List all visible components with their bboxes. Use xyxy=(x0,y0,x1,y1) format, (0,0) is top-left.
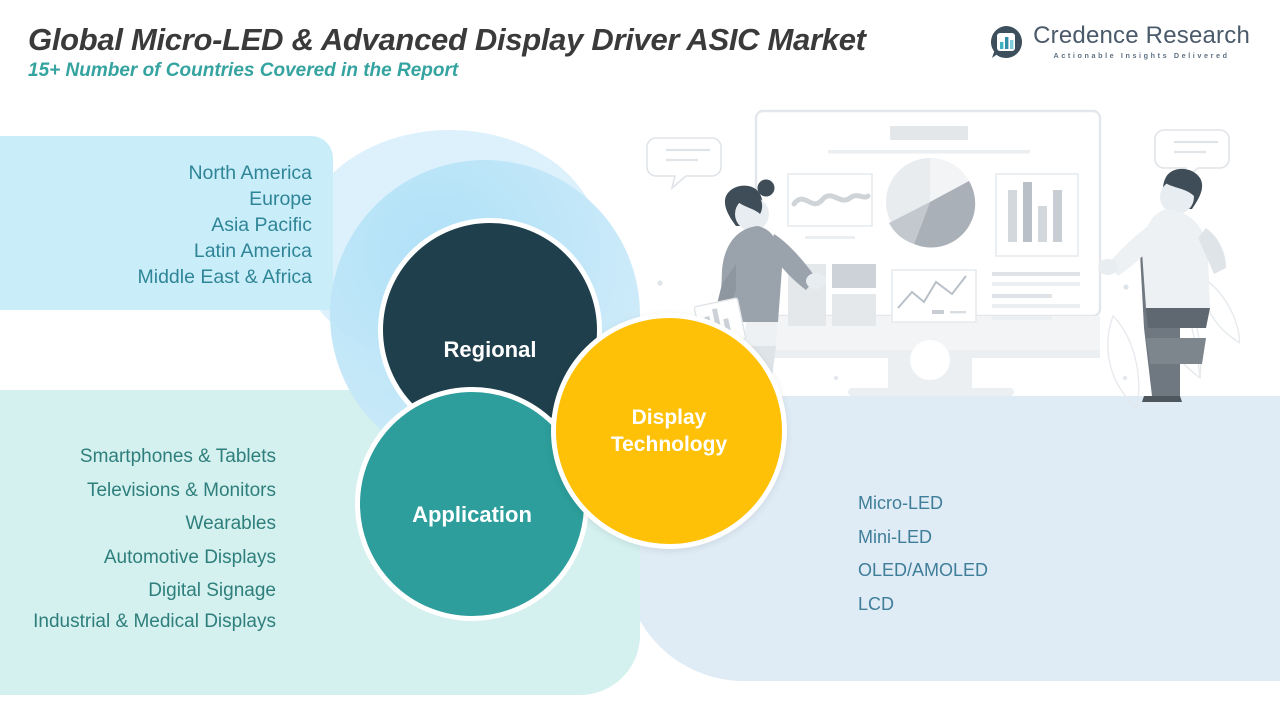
display-technology-segment-list: Micro-LED Mini-LED OLED/AMOLED LCD xyxy=(858,487,1158,621)
list-item: Televisions & Monitors xyxy=(0,474,276,508)
application-circle-label: Application xyxy=(412,502,532,528)
list-item: Asia Pacific xyxy=(0,212,312,238)
list-item: Industrial & Medical Displays xyxy=(0,608,276,636)
bar-chart-bubble-icon xyxy=(988,24,1024,60)
header: Global Micro-LED & Advanced Display Driv… xyxy=(0,0,1280,136)
list-item: Smartphones & Tablets xyxy=(0,440,276,474)
list-item: LCD xyxy=(858,588,1158,622)
brand-logo-text: Credence Research Actionable Insights De… xyxy=(1033,24,1250,59)
list-item: Wearables xyxy=(0,507,276,541)
display-technology-circle-label-line2: Technology xyxy=(611,433,727,456)
list-item: Automotive Displays xyxy=(0,541,276,575)
list-item: Digital Signage xyxy=(0,574,276,608)
regional-segment-list: North America Europe Asia Pacific Latin … xyxy=(0,160,312,290)
page-title: Global Micro-LED & Advanced Display Driv… xyxy=(28,22,866,58)
speech-bubble-left xyxy=(647,138,721,188)
list-item: OLED/AMOLED xyxy=(858,554,1158,588)
display-technology-circle[interactable]: Display Technology xyxy=(551,313,787,549)
page-subtitle: 15+ Number of Countries Covered in the R… xyxy=(28,60,458,82)
display-technology-circle-label-line1: Display xyxy=(632,406,707,429)
list-item: Micro-LED xyxy=(858,487,1158,521)
display-technology-circle-label: Display Technology xyxy=(585,404,753,458)
brand-tagline: Actionable Insights Delivered xyxy=(1033,52,1250,59)
list-item: Middle East & Africa xyxy=(0,264,312,290)
infographic-canvas: Global Micro-LED & Advanced Display Driv… xyxy=(0,0,1280,720)
brand-logo[interactable]: Credence Research Actionable Insights De… xyxy=(988,24,1250,60)
list-item: Mini-LED xyxy=(858,521,1158,555)
list-item: Latin America xyxy=(0,238,312,264)
application-segment-list: Smartphones & Tablets Televisions & Moni… xyxy=(0,440,276,636)
pie-chart xyxy=(886,158,975,247)
list-item: North America xyxy=(0,160,312,186)
regional-circle-label: Regional xyxy=(444,337,537,363)
person-right xyxy=(1098,169,1226,402)
brand-name: Credence Research xyxy=(1033,24,1250,48)
list-item: Europe xyxy=(0,186,312,212)
